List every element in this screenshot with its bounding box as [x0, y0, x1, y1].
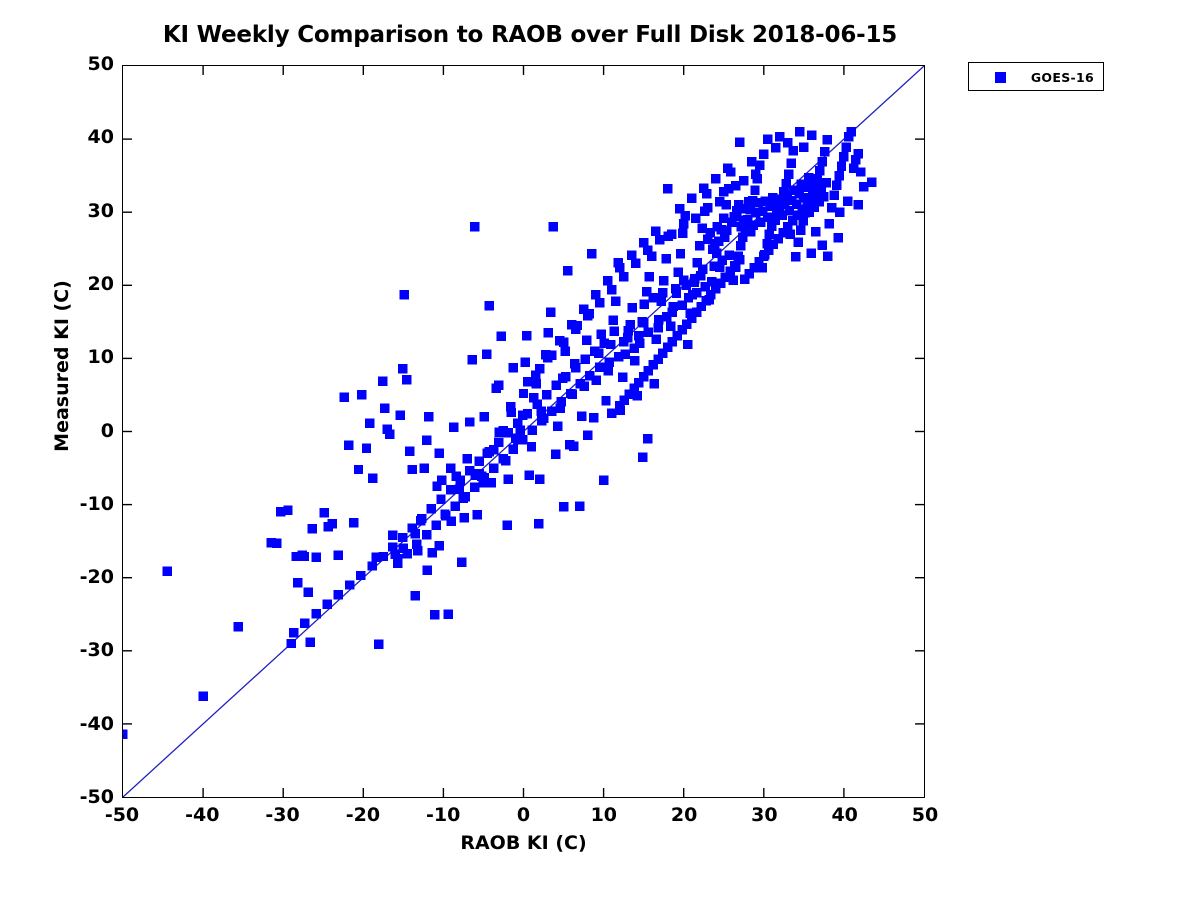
scatter-point — [367, 561, 376, 570]
scatter-point — [422, 530, 431, 539]
scatter-point — [791, 252, 800, 261]
scatter-point — [299, 552, 308, 561]
scatter-point — [407, 523, 416, 532]
scatter-point — [532, 400, 541, 409]
scatter-point — [731, 181, 740, 190]
scatter-point — [750, 186, 759, 195]
scatter-point — [356, 571, 365, 580]
scatter-point — [388, 542, 397, 551]
scatter-point — [661, 254, 670, 263]
scatter-point — [537, 416, 546, 425]
scatter-point — [672, 289, 681, 298]
y-tick-label--50: -50 — [44, 788, 114, 807]
scatter-point — [403, 549, 412, 558]
scatter-point — [334, 550, 343, 559]
scatter-point — [503, 520, 512, 529]
scatter-point — [679, 219, 688, 228]
scatter-point — [713, 222, 722, 231]
page-title: KI Weekly Comparison to RAOB over Full D… — [0, 22, 1060, 48]
scatter-point — [459, 513, 468, 522]
scatter-point — [577, 411, 586, 420]
scatter-point — [449, 422, 458, 431]
scatter-point — [629, 343, 638, 352]
scatter-point — [436, 495, 445, 504]
scatter-point — [422, 436, 431, 445]
scatter-point — [484, 447, 493, 456]
scatter-point — [379, 552, 388, 561]
scatter-point — [424, 412, 433, 421]
scatter-point — [334, 590, 343, 599]
scatter-point — [365, 419, 374, 428]
scatter-point — [666, 321, 675, 330]
scatter-point — [663, 184, 672, 193]
scatter-plot-canvas — [123, 66, 924, 797]
scatter-point — [603, 276, 612, 285]
scatter-point — [482, 349, 491, 358]
scatter-point — [796, 226, 805, 235]
scatter-point — [679, 275, 688, 284]
scatter-point — [566, 389, 575, 398]
scatter-point — [722, 226, 731, 235]
scatter-point — [595, 298, 604, 307]
scatter-point — [563, 266, 572, 275]
scatter-point — [609, 327, 618, 336]
scatter-point — [618, 373, 627, 382]
scatter-point — [437, 476, 446, 485]
scatter-point — [504, 474, 513, 483]
scatter-point — [388, 531, 397, 540]
scatter-point — [639, 318, 648, 327]
scatter-point — [614, 352, 623, 361]
scatter-point — [349, 518, 358, 527]
scatter-point — [653, 323, 662, 332]
scatter-point — [494, 381, 503, 390]
scatter-point — [123, 729, 128, 738]
scatter-point — [802, 183, 811, 192]
x-tick-label--30: -30 — [243, 806, 323, 825]
scatter-point — [559, 502, 568, 511]
legend-swatch-goes-16 — [995, 72, 1006, 83]
scatter-point — [519, 389, 528, 398]
scatter-point — [198, 691, 207, 700]
scatter-point — [837, 161, 846, 170]
chart-figure: KI Weekly Comparison to RAOB over Full D… — [0, 0, 1200, 900]
scatter-point — [460, 492, 469, 501]
scatter-point — [832, 180, 841, 189]
scatter-point — [504, 428, 513, 437]
scatter-point — [465, 466, 474, 475]
scatter-point — [683, 340, 692, 349]
scatter-point — [747, 157, 756, 166]
scatter-point — [822, 135, 831, 144]
scatter-point — [496, 332, 505, 341]
scatter-point — [535, 474, 544, 483]
scatter-point — [723, 164, 732, 173]
scatter-point — [393, 558, 402, 567]
scatter-point — [589, 413, 598, 422]
scatter-point — [585, 371, 594, 380]
scatter-point — [744, 197, 753, 206]
scatter-point — [354, 465, 363, 474]
scatter-point — [435, 449, 444, 458]
scatter-point — [658, 288, 667, 297]
scatter-point — [640, 300, 649, 309]
scatter-point — [677, 300, 686, 309]
legend-label-goes-16: GOES-16 — [1031, 70, 1094, 85]
scatter-point — [624, 326, 633, 335]
scatter-point — [611, 297, 620, 306]
scatter-point — [699, 183, 708, 192]
scatter-point — [583, 311, 592, 320]
scatter-point — [725, 251, 734, 260]
scatter-point — [854, 149, 863, 158]
scatter-point — [580, 354, 589, 363]
scatter-point — [455, 476, 464, 485]
scatter-point — [339, 392, 348, 401]
scatter-point — [859, 182, 868, 191]
y-tick-label--20: -20 — [44, 568, 114, 587]
x-tick-label-10: 10 — [564, 806, 644, 825]
scatter-point — [559, 338, 568, 347]
y-tick-label--40: -40 — [44, 715, 114, 734]
scatter-point — [380, 403, 389, 412]
scatter-point — [162, 566, 171, 575]
scatter-point — [378, 376, 387, 385]
scatter-point — [457, 558, 466, 567]
scatter-point — [576, 379, 585, 388]
scatter-point — [405, 446, 414, 455]
scatter-point — [307, 524, 316, 533]
scatter-point — [659, 276, 668, 285]
scatter-point — [569, 441, 578, 450]
y-axis-label: Measured KI (C) — [51, 266, 73, 466]
scatter-point — [649, 293, 658, 302]
scatter-point — [345, 580, 354, 589]
scatter-point — [552, 381, 561, 390]
scatter-point — [811, 227, 820, 236]
scatter-point — [619, 337, 628, 346]
scatter-point — [823, 251, 832, 260]
scatter-point — [784, 169, 793, 178]
scatter-point — [470, 482, 479, 491]
scatter-point — [534, 519, 543, 528]
scatter-point — [711, 174, 720, 183]
scatter-point — [807, 131, 816, 140]
scatter-point — [601, 396, 610, 405]
scatter-point — [311, 552, 320, 561]
scatter-point — [571, 363, 580, 372]
scatter-point — [528, 425, 537, 434]
scatter-point — [785, 229, 794, 238]
scatter-point — [374, 639, 383, 648]
scatter-point — [834, 233, 843, 242]
scatter-point — [604, 357, 613, 366]
scatter-point — [815, 166, 824, 175]
scatter-point — [272, 539, 281, 548]
scatter-point — [615, 263, 624, 272]
scatter-point — [631, 259, 640, 268]
scatter-point — [846, 127, 855, 136]
x-axis-label: RAOB KI (C) — [122, 832, 925, 854]
scatter-point — [839, 152, 848, 161]
scatter-point — [547, 351, 556, 360]
scatter-point — [323, 599, 332, 608]
scatter-point — [467, 355, 476, 364]
scatter-point — [662, 312, 671, 321]
scatter-point — [596, 330, 605, 339]
scatter-point — [522, 331, 531, 340]
scatter-point — [575, 501, 584, 510]
scatter-point — [293, 578, 302, 587]
scatter-point — [775, 132, 784, 141]
scatter-point — [604, 366, 613, 375]
scatter-point — [595, 362, 604, 371]
scatter-point — [508, 363, 517, 372]
scatter-point — [645, 272, 654, 281]
scatter-point — [806, 248, 815, 257]
scatter-point — [818, 157, 827, 166]
scatter-point — [508, 444, 517, 453]
scatter-point — [544, 328, 553, 337]
scatter-point — [234, 622, 243, 631]
scatter-point — [687, 194, 696, 203]
scatter-point — [451, 501, 460, 510]
scatter-point — [644, 327, 653, 336]
x-tick-label-20: 20 — [644, 806, 724, 825]
scatter-point — [599, 476, 608, 485]
scatter-point — [607, 285, 616, 294]
scatter-point — [735, 137, 744, 146]
scatter-point — [715, 197, 724, 206]
scatter-point — [495, 427, 504, 436]
scatter-point — [556, 397, 565, 406]
scatter-point — [856, 167, 865, 176]
scatter-point — [710, 239, 719, 248]
scatter-point — [835, 207, 844, 216]
scatter-point — [465, 417, 474, 426]
scatter-point — [480, 412, 489, 421]
x-tick-label-0: 0 — [484, 806, 564, 825]
scatter-point — [736, 241, 745, 250]
scatter-point — [547, 406, 556, 415]
scatter-point — [651, 226, 660, 235]
scatter-point — [771, 143, 780, 152]
scatter-point — [423, 566, 432, 575]
x-tick-label--50: -50 — [82, 806, 162, 825]
scatter-point — [619, 272, 628, 281]
x-tick-label--10: -10 — [403, 806, 483, 825]
scatter-point — [542, 390, 551, 399]
scatter-point — [820, 147, 829, 156]
scatter-point — [583, 430, 592, 439]
scatter-point — [675, 204, 684, 213]
scatter-point — [362, 444, 371, 453]
scatter-point — [520, 357, 529, 366]
scatter-point — [691, 213, 700, 222]
scatter-point — [763, 134, 772, 143]
scatter-point — [398, 364, 407, 373]
scatter-point — [582, 335, 591, 344]
scatter-point — [822, 178, 831, 187]
scatter-point — [368, 474, 377, 483]
y-tick-label-50: 50 — [44, 55, 114, 74]
x-tick-label-30: 30 — [724, 806, 804, 825]
scatter-point — [843, 196, 852, 205]
scatter-point — [385, 430, 394, 439]
scatter-point — [344, 441, 353, 450]
scatter-point — [489, 463, 498, 472]
scatter-point — [676, 249, 685, 258]
scatter-point — [411, 591, 420, 600]
scatter-point — [427, 504, 436, 513]
scatter-point — [655, 235, 664, 244]
scatter-point — [407, 465, 416, 474]
scatter-point — [819, 192, 828, 201]
scatter-point — [678, 229, 687, 238]
scatter-point — [431, 520, 440, 529]
scatter-point — [553, 422, 562, 431]
scatter-point — [740, 275, 749, 284]
scatter-point — [842, 142, 851, 151]
scatter-point — [475, 457, 484, 466]
scatter-point — [311, 609, 320, 618]
scatter-point — [532, 379, 541, 388]
scatter-series-goes-16 — [123, 127, 877, 739]
scatter-point — [470, 222, 479, 231]
y-tick-label-30: 30 — [44, 202, 114, 221]
scatter-point — [494, 438, 503, 447]
scatter-point — [560, 346, 569, 355]
scatter-point — [430, 610, 439, 619]
scatter-point — [590, 346, 599, 355]
scatter-point — [643, 434, 652, 443]
scatter-point — [419, 463, 428, 472]
scatter-point — [398, 533, 407, 542]
scatter-point — [830, 191, 839, 200]
scatter-point — [395, 411, 404, 420]
scatter-point — [551, 449, 560, 458]
x-tick-label-40: 40 — [805, 806, 885, 825]
scatter-point — [527, 442, 536, 451]
scatter-point — [818, 240, 827, 249]
scatter-point — [518, 435, 527, 444]
x-tick-label--20: -20 — [323, 806, 403, 825]
scatter-point — [571, 324, 580, 333]
scatter-point — [587, 249, 596, 258]
scatter-point — [412, 539, 421, 548]
scatter-point — [751, 169, 760, 178]
scatter-point — [667, 229, 676, 238]
scatter-point — [608, 316, 617, 325]
scatter-point — [484, 301, 493, 310]
scatter-point — [523, 409, 532, 418]
scatter-point — [834, 171, 843, 180]
scatter-point — [523, 377, 532, 386]
plot-area — [122, 65, 925, 798]
scatter-point — [634, 331, 643, 340]
scatter-point — [786, 158, 795, 167]
scatter-point — [799, 142, 808, 151]
y-tick-label--10: -10 — [44, 495, 114, 514]
scatter-point — [825, 219, 834, 228]
scatter-point — [600, 338, 609, 347]
scatter-point — [739, 216, 748, 225]
scatter-point — [548, 222, 557, 231]
scatter-point — [507, 408, 516, 417]
scatter-point — [303, 588, 312, 597]
scatter-point — [643, 245, 652, 254]
scatter-point — [283, 506, 292, 515]
scatter-point — [306, 637, 315, 646]
scatter-point — [628, 303, 637, 312]
scatter-point — [446, 485, 455, 494]
scatter-point — [513, 419, 522, 428]
scatter-point — [319, 508, 328, 517]
scatter-point — [463, 454, 472, 463]
scatter-point — [441, 511, 450, 520]
scatter-point — [630, 356, 639, 365]
y-tick-label-40: 40 — [44, 128, 114, 147]
scatter-point — [703, 203, 712, 212]
scatter-point — [719, 187, 728, 196]
scatter-point — [854, 200, 863, 209]
scatter-point — [638, 452, 647, 461]
x-tick-label--40: -40 — [162, 806, 242, 825]
scatter-point — [698, 264, 707, 273]
scatter-point — [443, 610, 452, 619]
scatter-point — [607, 408, 616, 417]
scatter-point — [649, 379, 658, 388]
scatter-point — [399, 290, 408, 299]
x-tick-label-50: 50 — [885, 806, 965, 825]
legend[interactable]: GOES-16 — [968, 62, 1104, 91]
scatter-point — [289, 628, 298, 637]
scatter-point — [402, 375, 411, 384]
y-tick-label--30: -30 — [44, 641, 114, 660]
scatter-point — [479, 478, 488, 487]
scatter-point — [417, 514, 426, 523]
scatter-point — [357, 390, 366, 399]
scatter-point — [286, 639, 295, 648]
scatter-point — [561, 372, 570, 381]
scatter-point — [546, 308, 555, 317]
scatter-point — [435, 541, 444, 550]
scatter-point — [759, 150, 768, 159]
scatter-point — [795, 127, 804, 136]
scatter-point — [300, 618, 309, 627]
scatter-point — [535, 364, 544, 373]
scatter-point — [472, 510, 481, 519]
scatter-point — [499, 454, 508, 463]
scatter-point — [804, 173, 813, 182]
scatter-point — [327, 519, 336, 528]
scatter-point — [524, 471, 533, 480]
